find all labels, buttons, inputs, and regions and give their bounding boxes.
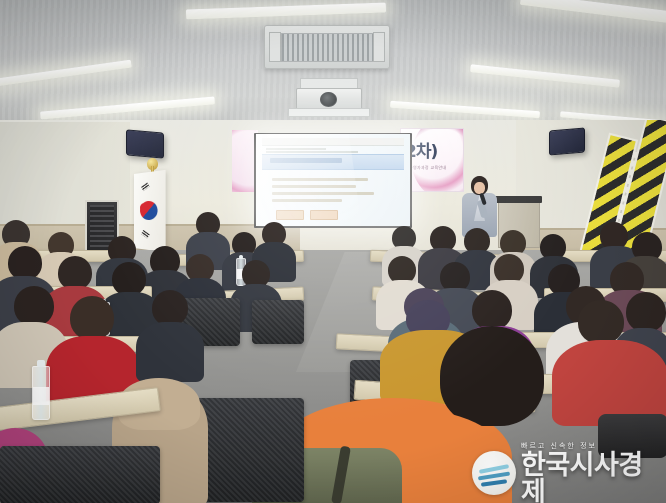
bottle-cap (239, 255, 243, 259)
seated-attendee (440, 326, 544, 426)
banner-subtitle: 운영자과정 교육안내 (409, 165, 446, 171)
seated-attendee (8, 246, 42, 280)
water-bottle (32, 366, 50, 420)
seated-attendee (472, 290, 512, 330)
seated-attendee (152, 290, 188, 326)
projection-screen (256, 134, 410, 226)
korean-national-flag (134, 170, 166, 252)
ac-vane (373, 32, 385, 62)
chair (252, 300, 304, 344)
photo-canvas: 2차) 운영자과정 교육안내 (0, 0, 666, 503)
seated-attendee (58, 256, 92, 290)
bag (598, 414, 666, 458)
ceiling-air-conditioner (264, 25, 390, 69)
seated-attendee (70, 296, 114, 340)
projector-lens-icon (320, 92, 337, 107)
bottle-label (33, 387, 49, 405)
taeguk-blue-lobe (147, 206, 159, 218)
ac-vane (269, 32, 281, 62)
seated-attendee (14, 286, 54, 326)
chair-mesh (0, 446, 160, 503)
seated-attendee (112, 262, 146, 296)
projector-shelf (288, 108, 370, 117)
flag-trigram (141, 182, 150, 191)
ac-grill (281, 33, 375, 62)
presenter-face (474, 182, 485, 194)
chair (0, 446, 160, 503)
seated-attendee (578, 300, 624, 344)
wall-speaker-left (126, 129, 164, 158)
taeguk-symbol (137, 198, 161, 224)
flag-trigram (141, 230, 150, 239)
bottle-cap (37, 360, 45, 367)
seated-attendee (136, 322, 204, 382)
seated-attendee (626, 292, 666, 332)
lectern-top (494, 196, 542, 203)
screen-glare (256, 134, 364, 226)
chair-mesh (252, 300, 304, 344)
